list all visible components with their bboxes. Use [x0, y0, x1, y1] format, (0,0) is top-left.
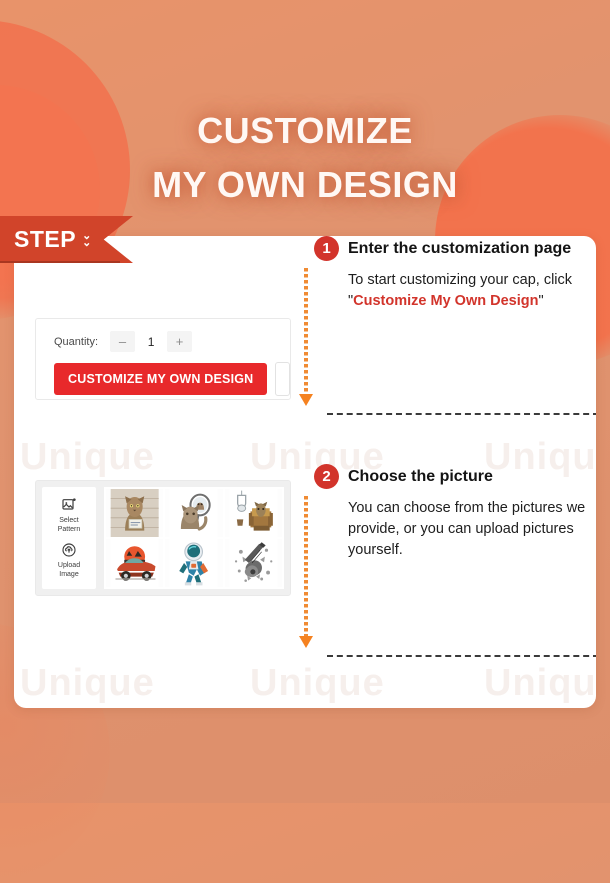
- select-pattern-label: Select Pattern: [58, 516, 81, 534]
- arrow-down-icon: [299, 636, 313, 648]
- picture-chooser-mock: Select Pattern Up: [35, 480, 291, 596]
- step-1-heading: 1 Enter the customization page: [314, 236, 596, 261]
- step-1-title: Enter the customization page: [348, 240, 571, 258]
- product-quantity-mock: Quantity: – 1 + CUSTOMIZE MY OWN DESIGN: [35, 318, 291, 400]
- step-row-1: Quantity: – 1 + CUSTOMIZE MY OWN DESIGN: [14, 236, 596, 464]
- steps-card: Unique Unique Unique Unique Unique Uniqu…: [14, 236, 596, 708]
- step-2-description: You can choose from the pictures we prov…: [348, 498, 596, 561]
- headline-line-1: CUSTOMIZE: [197, 110, 413, 151]
- connector-dotted-line: [304, 496, 308, 636]
- step-2-visual: Select Pattern Up: [14, 464, 286, 708]
- step-divider-1: [327, 413, 596, 415]
- customize-my-own-design-button[interactable]: CUSTOMIZE MY OWN DESIGN: [54, 363, 267, 395]
- cat-mirror-thumbnail[interactable]: [165, 489, 222, 537]
- image-pattern-icon: [61, 497, 77, 513]
- headline-line-2: MY OWN DESIGN: [0, 158, 610, 212]
- step-1-visual: Quantity: – 1 + CUSTOMIZE MY OWN DESIGN: [14, 236, 286, 464]
- step-number-badge: 1: [314, 236, 339, 261]
- upload-image-label: Upload Image: [58, 561, 80, 579]
- quantity-row: Quantity: – 1 +: [36, 319, 290, 352]
- step-row-2: Select Pattern Up: [14, 464, 596, 708]
- quantity-decrement-button[interactable]: –: [110, 331, 135, 352]
- page-headline: CUSTOMIZE MY OWN DESIGN: [0, 104, 610, 212]
- cat-armchair-thumbnail[interactable]: [225, 489, 282, 537]
- vintage-car-thumbnail[interactable]: [106, 539, 163, 587]
- cat-mugshot-thumbnail[interactable]: [106, 489, 163, 537]
- quantity-stepper[interactable]: – 1 +: [110, 331, 192, 352]
- secondary-action-button[interactable]: [275, 362, 290, 396]
- chevron-down-icon: ⌄⌄: [82, 233, 91, 247]
- chooser-sidebar: Select Pattern Up: [42, 487, 96, 589]
- quantity-increment-button[interactable]: +: [167, 331, 192, 352]
- step-2-heading: 2 Choose the picture: [314, 464, 596, 489]
- arrow-down-icon: [299, 394, 313, 406]
- astronaut-thumbnail[interactable]: [165, 539, 222, 587]
- step-number-badge: 2: [314, 464, 339, 489]
- step-connector-arrow-1: [299, 268, 313, 406]
- quantity-label: Quantity:: [54, 336, 98, 348]
- quote-close: ": [538, 293, 543, 309]
- step-connector-arrow-2: [299, 496, 313, 648]
- step-1-highlight-text: Customize My Own Design: [353, 293, 538, 309]
- step-1-text: 1 Enter the customization page To start …: [314, 236, 596, 464]
- step-1-body-text: To start customizing your cap, click: [348, 272, 572, 288]
- step-divider-2: [327, 655, 596, 657]
- cloud-upload-icon: [61, 542, 77, 558]
- step-1-description: To start customizing your cap, click "Cu…: [348, 270, 596, 312]
- connector-dotted-line: [304, 268, 308, 394]
- select-pattern-option[interactable]: Select Pattern: [58, 497, 81, 534]
- step-2-text: 2 Choose the picture You can choose from…: [314, 464, 596, 708]
- thumbnail-grid: [104, 487, 284, 589]
- step-ribbon-label: STEP: [14, 226, 76, 253]
- cta-row: CUSTOMIZE MY OWN DESIGN: [36, 352, 290, 396]
- guitar-thumbnail[interactable]: [225, 539, 282, 587]
- upload-image-option[interactable]: Upload Image: [58, 542, 80, 579]
- quantity-value[interactable]: 1: [135, 335, 167, 349]
- step-2-title: Choose the picture: [348, 468, 493, 486]
